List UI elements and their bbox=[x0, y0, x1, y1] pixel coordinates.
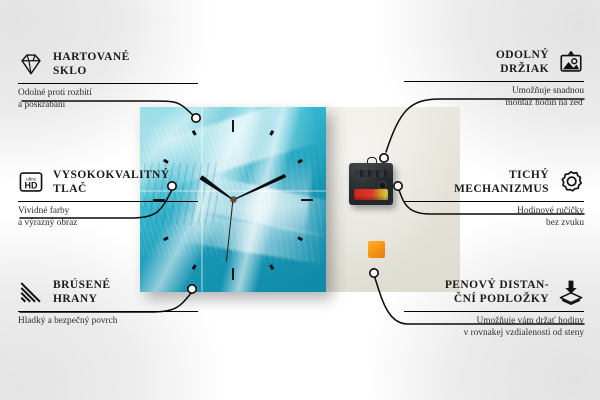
diamond-icon bbox=[18, 51, 44, 77]
feature-tempered-glass: HARTOVANÉ SKLO Odolné proti rozbití a po… bbox=[18, 50, 198, 111]
feature-durable-hanger: ODOLNÝ DRŽIAK Umožňuje snadnou montáž ho… bbox=[404, 48, 584, 109]
feature-description: Umožňuje snadnou montáž hodin na zeď bbox=[404, 86, 584, 109]
stacked-layers-down-arrow-icon bbox=[558, 279, 584, 305]
feature-title: VYSOKOKVALITNÝ TLAČ bbox=[53, 168, 170, 196]
divider bbox=[18, 201, 198, 202]
divider bbox=[404, 201, 584, 202]
svg-text:HD: HD bbox=[25, 181, 38, 191]
feature-description: Umožňuje vám držať hodiny v rovnakej vzd… bbox=[404, 316, 584, 339]
feature-header: TICHÝ MECHANIZMUS bbox=[404, 168, 584, 196]
feature-header: BRÚSENÉ HRANY bbox=[18, 278, 198, 306]
infographic-canvas: HARTOVANÉ SKLO Odolné proti rozbití a po… bbox=[0, 0, 600, 400]
feature-title: ODOLNÝ DRŽIAK bbox=[496, 48, 549, 76]
feature-foam-spacers: PENOVÝ DISTAN- ČNÍ PODLOŽKY Umožňuje vám… bbox=[404, 278, 584, 339]
divider bbox=[18, 311, 198, 312]
feature-title: BRÚSENÉ HRANY bbox=[53, 278, 110, 306]
feature-description: Hladký a bezpečný povrch bbox=[18, 316, 198, 328]
divider bbox=[404, 311, 584, 312]
wire-node-silent-mechanism bbox=[394, 182, 402, 190]
feature-title: TICHÝ MECHANIZMUS bbox=[454, 168, 549, 196]
divider bbox=[18, 83, 198, 84]
feature-description: Hodinové ručičky bez zvuku bbox=[404, 206, 584, 229]
feature-description: Vividné farby a výrazný obraz bbox=[18, 206, 198, 229]
feature-header: HARTOVANÉ SKLO bbox=[18, 50, 198, 78]
feature-header: ultra HD VYSOKOKVALITNÝ TLAČ bbox=[18, 168, 198, 196]
feature-title: PENOVÝ DISTAN- ČNÍ PODLOŽKY bbox=[445, 278, 549, 306]
wire-node-durable-hanger bbox=[380, 154, 388, 162]
wire-node-foam-spacers bbox=[370, 269, 378, 277]
feature-title: HARTOVANÉ SKLO bbox=[53, 50, 130, 78]
feature-header: ODOLNÝ DRŽIAK bbox=[404, 48, 584, 76]
feature-silent-mechanism: TICHÝ MECHANIZMUS Hodinové ručičky bez z… bbox=[404, 168, 584, 229]
feature-header: PENOVÝ DISTAN- ČNÍ PODLOŽKY bbox=[404, 278, 584, 306]
feature-ground-edges: BRÚSENÉ HRANY Hladký a bezpečný povrch bbox=[18, 278, 198, 328]
beveled-edge-icon bbox=[18, 279, 44, 305]
gear-icon bbox=[558, 169, 584, 195]
feature-description: Odolné proti rozbití a poškrábání bbox=[18, 88, 198, 111]
wire-node-tempered-glass bbox=[192, 114, 200, 122]
ultra-hd-icon: ultra HD bbox=[18, 169, 44, 195]
hanging-picture-icon bbox=[558, 49, 584, 75]
divider bbox=[404, 81, 584, 82]
feature-high-quality-print: ultra HD VYSOKOKVALITNÝ TLAČ Vividné far… bbox=[18, 168, 198, 229]
